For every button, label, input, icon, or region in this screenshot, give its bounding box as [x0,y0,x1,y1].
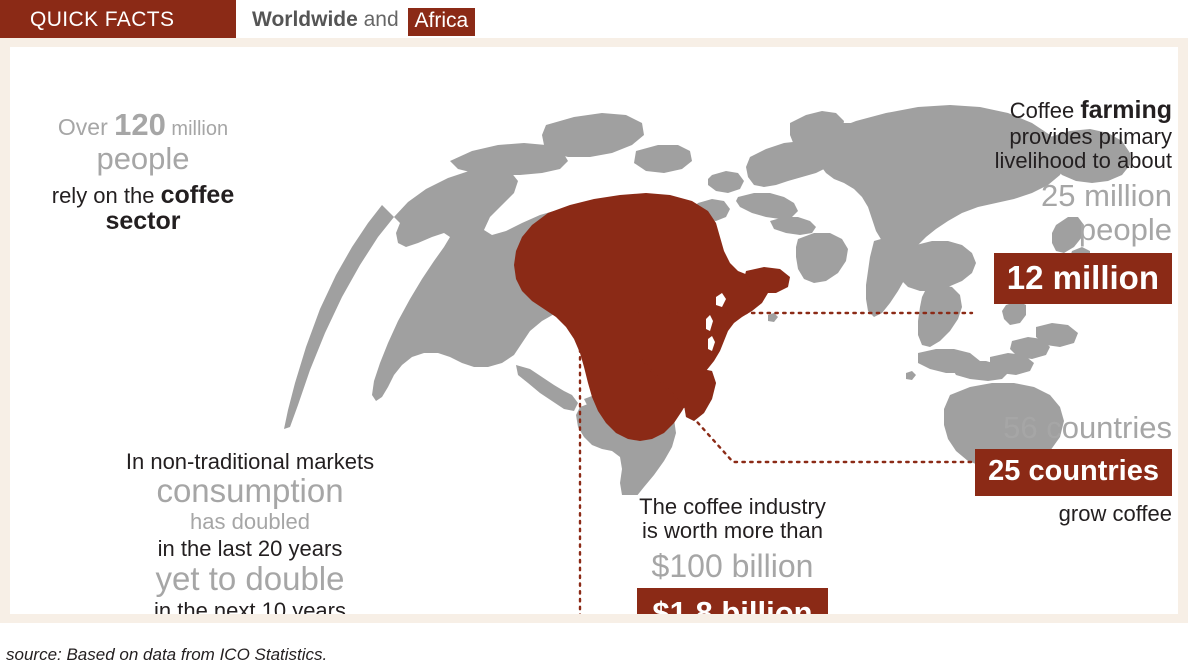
fact-industry-line2: is worth more than [595,519,870,542]
fact-consumption-line1: In non-traditional markets [65,450,435,473]
fact-farming-africa-badge: 12 million [994,253,1172,304]
fact-consumption-line6: in the next 10 years [65,599,435,614]
fact-countries-block: 56 countries 25 countries grow coffee [910,412,1172,525]
subtitle-worldwide: Worldwide [252,8,358,31]
quick-facts-tab: QUICK FACTS [0,0,236,38]
subtitle-africa-badge: Africa [408,8,476,36]
fact-people-block: Over 120 million people rely on the coff… [18,109,268,235]
cream-frame: Over 120 million people rely on the coff… [0,38,1188,623]
fact-consumption-line4: in the last 20 years [65,537,435,560]
fact-countries-caption: grow coffee [910,502,1172,525]
fact-people-line4: sector [18,208,268,235]
fact-farming-line1-bold: farming [1080,96,1172,124]
fact-farming-line3: livelihood to about [910,149,1172,172]
subtitle-conjunction: and [358,8,405,31]
fact-people-line3: rely on the coffee [18,182,268,209]
content-canvas: Over 120 million people rely on the coff… [10,47,1178,614]
fact-industry-worldwide-value: $100 billion [595,550,870,584]
fact-people-line3-pre: rely on the [52,183,161,208]
fact-people-line2: people [18,143,268,176]
fact-farming-line1-pre: Coffee [1010,98,1081,123]
fact-countries-africa-badge: 25 countries [975,449,1172,496]
infographic-root: QUICK FACTS Worldwide and Africa [0,0,1188,666]
fact-countries-worldwide-value: 56 countries [910,412,1172,445]
fact-people-line1-post: million [166,118,228,140]
fact-consumption-line2: consumption [65,474,435,509]
fact-farming-block: Coffee farming provides primary liveliho… [910,97,1172,304]
fact-industry-africa-badge: $1.8 billion [637,588,827,614]
header-subtitle: Worldwide and Africa [252,7,475,35]
quick-facts-label: QUICK FACTS [30,8,174,32]
fact-farming-worldwide-value: 25 million [910,180,1172,213]
header-bar: QUICK FACTS Worldwide and Africa [0,0,1188,38]
fact-industry-block: The coffee industry is worth more than $… [595,495,870,614]
fact-consumption-line3: has doubled [65,510,435,533]
fact-consumption-line5: yet to double [65,562,435,597]
fact-industry-line1: The coffee industry [595,495,870,518]
fact-people-line1-pre: Over [58,114,114,140]
fact-people-line3-bold: coffee [161,181,235,209]
fact-farming-line1: Coffee farming [910,97,1172,124]
fact-people-line1: Over 120 million [18,109,268,142]
africa-highlight-region [514,193,790,441]
fact-consumption-block: In non-traditional markets consumption h… [65,450,435,614]
fact-farming-line2: provides primary [910,125,1172,148]
fact-farming-worldwide-unit: people [910,214,1172,247]
fact-people-number: 120 [114,107,166,142]
source-note: source: Based on data from ICO Statistic… [6,645,327,665]
